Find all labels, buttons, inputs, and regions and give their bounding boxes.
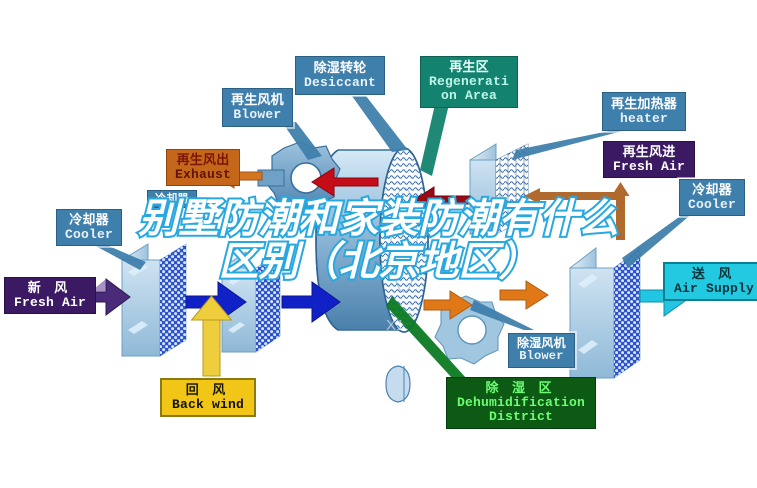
label-back-wind-en: Back wind <box>172 398 244 413</box>
headline-line-1: 别墅防潮和家装防潮有什么 <box>0 198 757 241</box>
label-fresh-air-en: Fresh Air <box>14 296 86 311</box>
label-regeneration-area: 再生区 Regenerati on Area <box>420 56 518 108</box>
arrow-dry-air-2 <box>500 281 548 309</box>
label-dehumidification-district: 除 湿 区 Dehumidification District <box>446 377 596 429</box>
label-regeneration-fresh-air-en: Fresh Air <box>613 160 685 175</box>
label-regeneration-blower-cn: 再生风机 <box>231 93 284 108</box>
label-regeneration-blower-en: Blower <box>231 108 284 123</box>
label-regeneration-area-en2: on Area <box>429 89 509 104</box>
headline-line-2: 区别（北京地区） <box>0 241 757 284</box>
label-exhaust-en: Exhaust <box>175 168 231 183</box>
label-regeneration-area-cn: 再生区 <box>429 60 509 75</box>
headline-overlay: 别墅防潮和家装防潮有什么 区别（北京地区） <box>0 198 757 284</box>
label-regeneration-blower: 再生风机 Blower <box>222 88 293 127</box>
label-regeneration-fresh-air-cn: 再生风进 <box>613 145 685 160</box>
label-regeneration-heater: 再生加热器 heater <box>602 92 686 131</box>
label-desiccant-wheel-en: Desiccant <box>304 76 376 91</box>
label-desiccant-wheel: 除湿转轮 Desiccant <box>295 56 385 95</box>
label-exhaust-cn: 再生风出 <box>175 153 231 168</box>
label-desiccant-wheel-cn: 除湿转轮 <box>304 61 376 76</box>
label-back-wind: 回 风 Back wind <box>160 378 256 417</box>
label-cooler-right-cn: 冷却器 <box>688 183 736 198</box>
label-dehumidification-blower-cn: 除湿风机 <box>517 337 566 350</box>
label-regeneration-heater-en: heater <box>611 112 677 127</box>
label-regeneration-area-en: Regenerati <box>429 75 509 90</box>
label-regeneration-fresh-air: 再生风进 Fresh Air <box>603 141 695 178</box>
dehumidifier-schematic-diagram: X1 除湿转轮 Desiccant 再生风机 Blower 再生区 Regene… <box>0 0 757 488</box>
label-back-wind-cn: 回 风 <box>172 383 244 398</box>
label-dehumidification-district-en: Dehumidification <box>457 396 585 411</box>
label-dehumidification-blower-en: Blower <box>517 350 566 363</box>
label-regeneration-heater-cn: 再生加热器 <box>611 97 677 112</box>
label-exhaust: 再生风出 Exhaust <box>166 149 240 186</box>
label-dehumidification-district-en2: District <box>457 410 585 425</box>
label-dehumidification-district-cn: 除 湿 区 <box>457 381 585 396</box>
watermark-text: X1 <box>386 317 404 334</box>
label-dehumidification-blower: 除湿风机 Blower <box>508 333 575 368</box>
